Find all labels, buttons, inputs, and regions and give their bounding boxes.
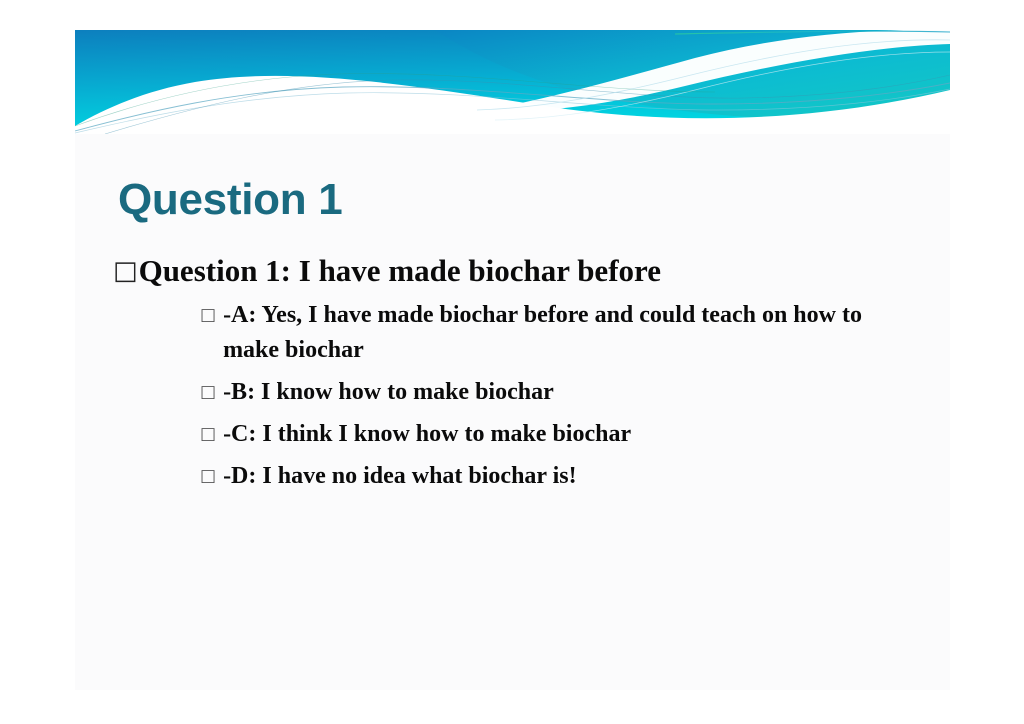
answer-option-label: -B: I know how to make biochar: [223, 375, 863, 410]
answer-option-label: -A: Yes, I have made biochar before and …: [223, 298, 863, 368]
square-bullet-icon: □: [200, 375, 216, 410]
answer-option-d: □ -D: I have no idea what biochar is!: [200, 459, 915, 494]
answer-option-label: -C: I think I know how to make biochar: [223, 417, 863, 452]
square-bullet-icon: □: [200, 417, 216, 452]
slide-body: □ Question 1: I have made biochar before…: [105, 252, 915, 501]
answer-option-label: -D: I have no idea what biochar is!: [223, 459, 863, 494]
answer-option-a: □ -A: Yes, I have made biochar before an…: [200, 298, 915, 368]
bullet-lead-label: Question 1: I have made biochar before: [139, 252, 915, 290]
square-bullet-icon: □: [200, 459, 216, 494]
wave-graphic: [75, 30, 950, 134]
answer-option-b: □ -B: I know how to make biochar: [200, 375, 915, 410]
answer-option-c: □ -C: I think I know how to make biochar: [200, 417, 915, 452]
slide-canvas: Question 1 □ Question 1: I have made bio…: [75, 30, 950, 690]
square-bullet-icon: □: [200, 298, 216, 333]
wave-header-decoration: [75, 30, 950, 134]
page-title: Question 1: [118, 174, 908, 226]
square-bullet-icon: □: [113, 252, 138, 290]
bullet-lead: □ Question 1: I have made biochar before: [105, 252, 915, 290]
answer-options-list: □ -A: Yes, I have made biochar before an…: [105, 298, 915, 494]
